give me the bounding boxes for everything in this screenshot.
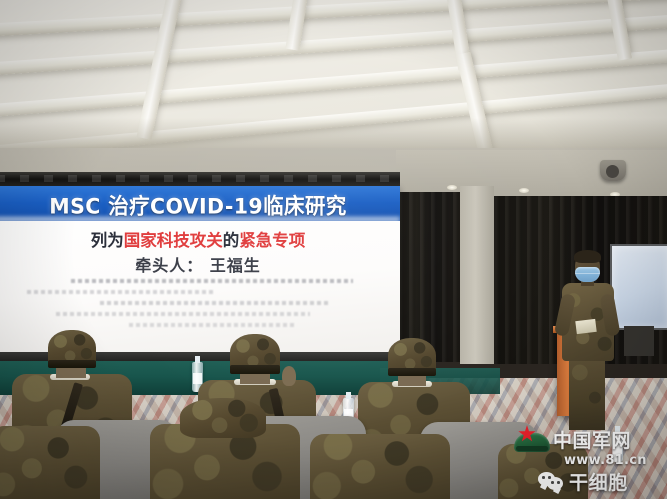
audience-torso (0, 426, 100, 499)
watermark-url: www.81.cn (564, 453, 647, 468)
cap-band (230, 365, 280, 374)
audience-member (150, 398, 300, 499)
speaker-person (556, 252, 618, 432)
slide-body-line (100, 301, 332, 305)
audience-hand (282, 366, 296, 386)
slide-presenter-line: 牵头人： 王福生 (0, 252, 400, 276)
downlight (519, 188, 529, 193)
watermark-wechat-row: 干细胞 (538, 468, 628, 495)
wall-curtain-left (398, 192, 460, 362)
speaker-hair (574, 250, 601, 263)
speaker-legs (569, 358, 605, 430)
slide-body-line (129, 323, 296, 327)
cap-band (388, 368, 436, 376)
coffered-ceiling (0, 0, 667, 160)
wechat-icon (538, 472, 564, 491)
slide-line2-middle: 的 (223, 231, 240, 250)
audience-member (0, 408, 100, 499)
slide-line2-highlight-2: 紧急专项 (239, 231, 305, 250)
slide-body-text (20, 279, 382, 334)
side-monitor (610, 244, 667, 330)
watermark-brand-row: 中国军网 (514, 424, 631, 454)
ceiling-speaker (600, 160, 626, 181)
watermark: 中国军网 www.81.cn 干细胞 (514, 424, 664, 494)
slide-body-line (27, 290, 215, 294)
slide-title-bar: MSC 治疗COVID-19临床研究 (0, 186, 400, 221)
camouflage-cap (180, 398, 266, 438)
conference-photo: MSC 治疗COVID-19临床研究 列为国家科技攻关的紧急专项 牵头人： 王福… (0, 0, 667, 499)
watermark-wechat-label: 干细胞 (569, 468, 628, 495)
cap-band (48, 360, 96, 368)
speaker-papers (575, 319, 596, 334)
slide-body-line (56, 312, 309, 316)
slide-subtitle-line: 列为国家科技攻关的紧急专项 (0, 227, 400, 251)
monitor-stand (624, 326, 654, 356)
slide-line2-prefix: 列为 (91, 231, 124, 250)
military-cap-star-icon (514, 425, 550, 453)
downlight (447, 185, 457, 190)
audience-torso (310, 434, 450, 499)
slide-body-line (71, 279, 353, 283)
watermark-brand-text: 中国军网 (553, 426, 631, 453)
speaker-face-mask (575, 267, 600, 282)
slide-title: MSC 治疗COVID-19临床研究 (49, 188, 346, 220)
slide-line2-highlight-1: 国家科技攻关 (124, 231, 223, 250)
audience-member (310, 424, 450, 499)
